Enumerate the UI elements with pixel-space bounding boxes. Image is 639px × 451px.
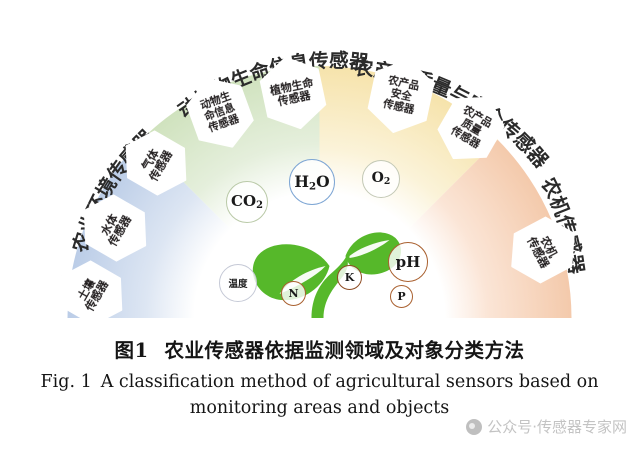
marker-co2[interactable]: CO2 (226, 181, 268, 223)
marker-temperature-label: 温度 (228, 276, 247, 290)
hex-gas-sensor-label: 气体传感器 (136, 140, 177, 186)
caption-english-text1: A classification method of agricultural … (101, 372, 599, 392)
marker-nitrogen-label: N (288, 287, 298, 300)
hex-plant-life-sensor-label: 植物生命传感器 (266, 76, 320, 110)
figure-caption: 图1农业传感器依据监测领域及对象分类方法 Fig. 1A classificat… (0, 334, 639, 422)
caption-english-number: Fig. 1 (41, 372, 92, 392)
marker-phosphorus-label: P (397, 290, 405, 303)
caption-chinese: 图1农业传感器依据监测领域及对象分类方法 (0, 334, 639, 363)
marker-potassium-label: K (345, 271, 355, 284)
marker-nitrogen[interactable]: N (281, 281, 306, 306)
caption-english-line2: monitoring areas and objects (0, 395, 639, 421)
caption-english-line1: Fig. 1A classification method of agricul… (0, 369, 639, 395)
caption-chinese-number: 图1 (114, 339, 148, 362)
caption-chinese-text: 农业传感器依据监测领域及对象分类方法 (165, 339, 525, 362)
marker-o2-label: O2 (372, 170, 391, 187)
hex-animal-life-info-sensor-label: 动物生命信息传感器 (196, 90, 243, 136)
marker-temperature[interactable]: 温度 (219, 264, 257, 302)
figure-root: 农业环境传感器 动植物生命信息传感器 农产品质量与安全传感器 农机传感器 (0, 0, 639, 451)
marker-ph[interactable]: pH (388, 242, 428, 282)
marker-co2-label: CO2 (231, 192, 263, 211)
marker-h2o[interactable]: H2O (289, 159, 335, 205)
marker-ph-label: pH (396, 253, 421, 271)
hex-agri-machinery-sensor-label: 农机传感器 (523, 227, 563, 273)
plant-sprout-icon (253, 232, 401, 318)
marker-h2o-label: H2O (294, 172, 329, 192)
hex-soil-sensor-label: 土壤传感器 (72, 270, 113, 316)
hex-produce-safety-sensor-label: 农产品安全传感器 (379, 75, 423, 117)
marker-o2[interactable]: O2 (362, 160, 400, 198)
marker-phosphorus[interactable]: P (390, 285, 413, 308)
sensor-classification-fan: 农业环境传感器 动植物生命信息传感器 农产品质量与安全传感器 农机传感器 (0, 0, 639, 330)
hex-water-sensor-label: 水体传感器 (95, 205, 136, 251)
marker-potassium[interactable]: K (337, 265, 362, 290)
hex-produce-quality-sensor-label: 农产品质量传感器 (446, 103, 496, 152)
